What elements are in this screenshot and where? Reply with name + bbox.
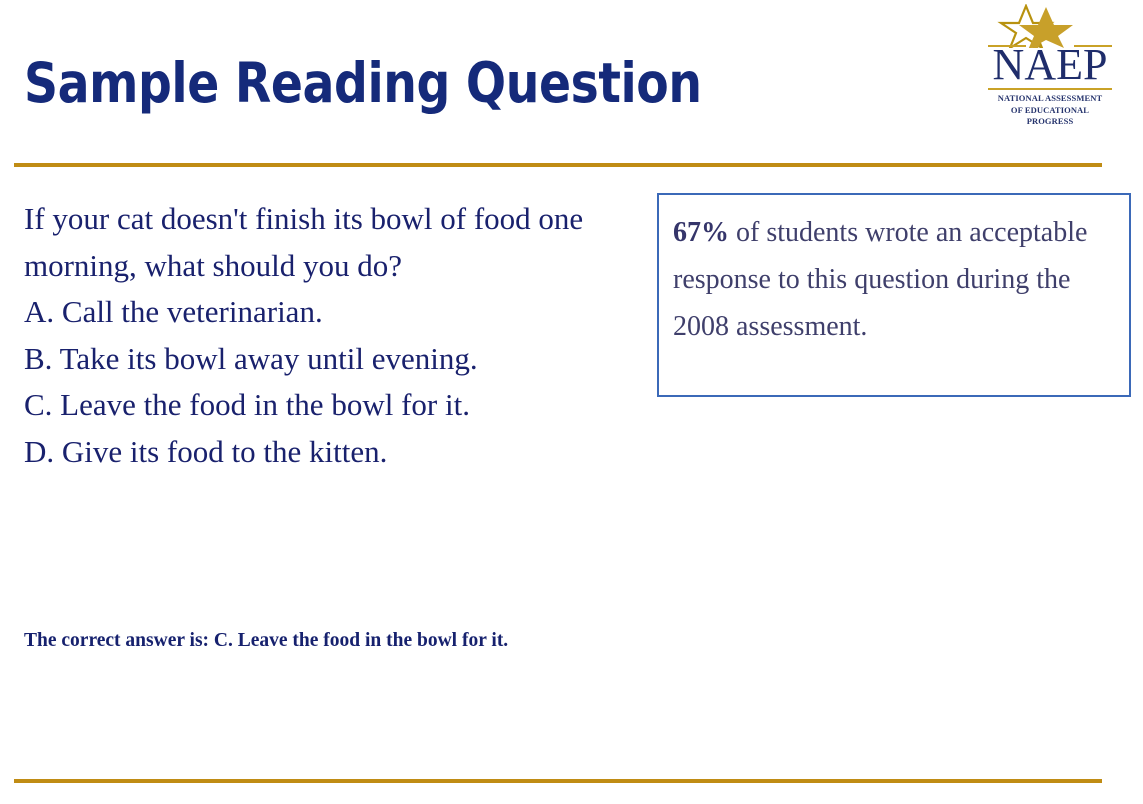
header-divider-rule <box>14 163 1102 167</box>
naep-logo: NAEP NATIONAL ASSESSMENT OF EDUCATIONAL … <box>986 4 1114 135</box>
page-title: Sample Reading Question <box>24 52 702 114</box>
statistic-text: 67% of students wrote an acceptable resp… <box>659 195 1129 350</box>
statistic-callout-box: 67% of students wrote an acceptable resp… <box>657 193 1131 397</box>
question-stem: If your cat doesn't finish its bowl of f… <box>24 196 624 289</box>
statistic-percent: 67% <box>673 217 729 248</box>
question-column: If your cat doesn't finish its bowl of f… <box>24 196 624 475</box>
naep-subtitle-line-3: PROGRESS <box>986 116 1114 128</box>
answer-option-a[interactable]: A. Call the veterinarian. <box>24 289 624 336</box>
footer-divider-rule <box>14 779 1102 783</box>
answer-option-d[interactable]: D. Give its food to the kitten. <box>24 429 624 476</box>
answer-options-list: A. Call the veterinarian. B. Take its bo… <box>24 289 624 475</box>
answer-option-b[interactable]: B. Take its bowl away until evening. <box>24 336 624 383</box>
naep-wordmark: NAEP <box>986 42 1114 88</box>
naep-subtitle-line-2: OF EDUCATIONAL <box>986 105 1114 117</box>
correct-answer-note: The correct answer is: C. Leave the food… <box>24 623 584 658</box>
logo-rule-middle <box>988 88 1112 90</box>
statistic-description: of students wrote an acceptable response… <box>673 217 1087 342</box>
answer-option-c[interactable]: C. Leave the food in the bowl for it. <box>24 382 624 429</box>
naep-subtitle-line-1: NATIONAL ASSESSMENT <box>986 93 1114 105</box>
naep-logo-subtitle: NATIONAL ASSESSMENT OF EDUCATIONAL PROGR… <box>986 93 1114 128</box>
slide-canvas: Sample Reading Question NAEP NATIONAL AS… <box>0 0 1143 804</box>
